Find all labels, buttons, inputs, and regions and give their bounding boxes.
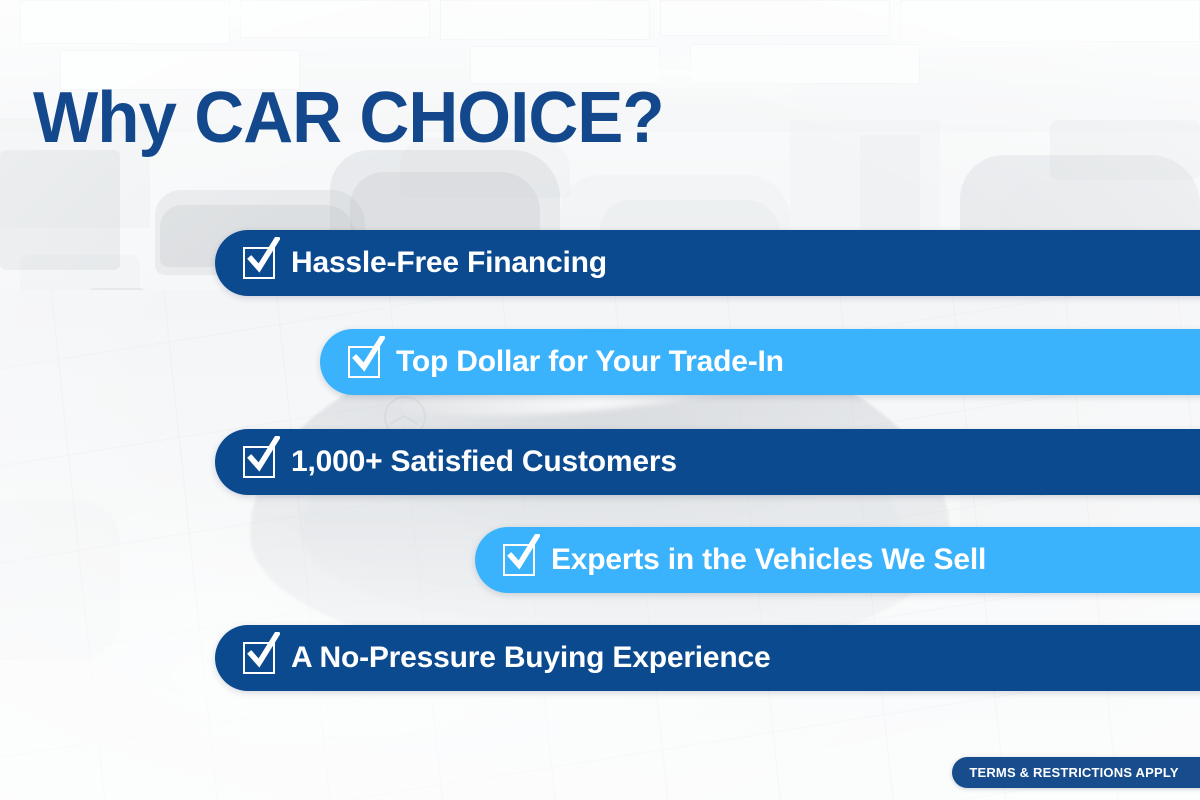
checkbox-checked-icon	[243, 247, 275, 279]
feature-pill[interactable]: Top Dollar for Your Trade-In	[320, 329, 1200, 395]
checkbox-checked-icon	[503, 544, 535, 576]
promo-banner: Why CAR CHOICE? Hassle-Free Financing To…	[0, 0, 1200, 800]
feature-label: 1,000+ Satisfied Customers	[291, 447, 677, 477]
feature-pill[interactable]: A No-Pressure Buying Experience	[215, 625, 1200, 691]
feature-pill[interactable]: 1,000+ Satisfied Customers	[215, 429, 1200, 495]
feature-label: A No-Pressure Buying Experience	[291, 643, 771, 673]
terms-disclaimer-badge[interactable]: TERMS & RESTRICTIONS APPLY	[952, 757, 1200, 788]
checkbox-checked-icon	[348, 346, 380, 378]
feature-pill[interactable]: Hassle-Free Financing	[215, 230, 1200, 296]
checkbox-checked-icon	[243, 446, 275, 478]
feature-label: Experts in the Vehicles We Sell	[551, 545, 986, 575]
checkbox-checked-icon	[243, 642, 275, 674]
feature-label: Hassle-Free Financing	[291, 248, 607, 278]
feature-pill[interactable]: Experts in the Vehicles We Sell	[475, 527, 1200, 593]
terms-disclaimer-text: TERMS & RESTRICTIONS APPLY	[969, 765, 1178, 780]
page-title: Why CAR CHOICE?	[33, 82, 664, 154]
feature-label: Top Dollar for Your Trade-In	[396, 347, 784, 377]
